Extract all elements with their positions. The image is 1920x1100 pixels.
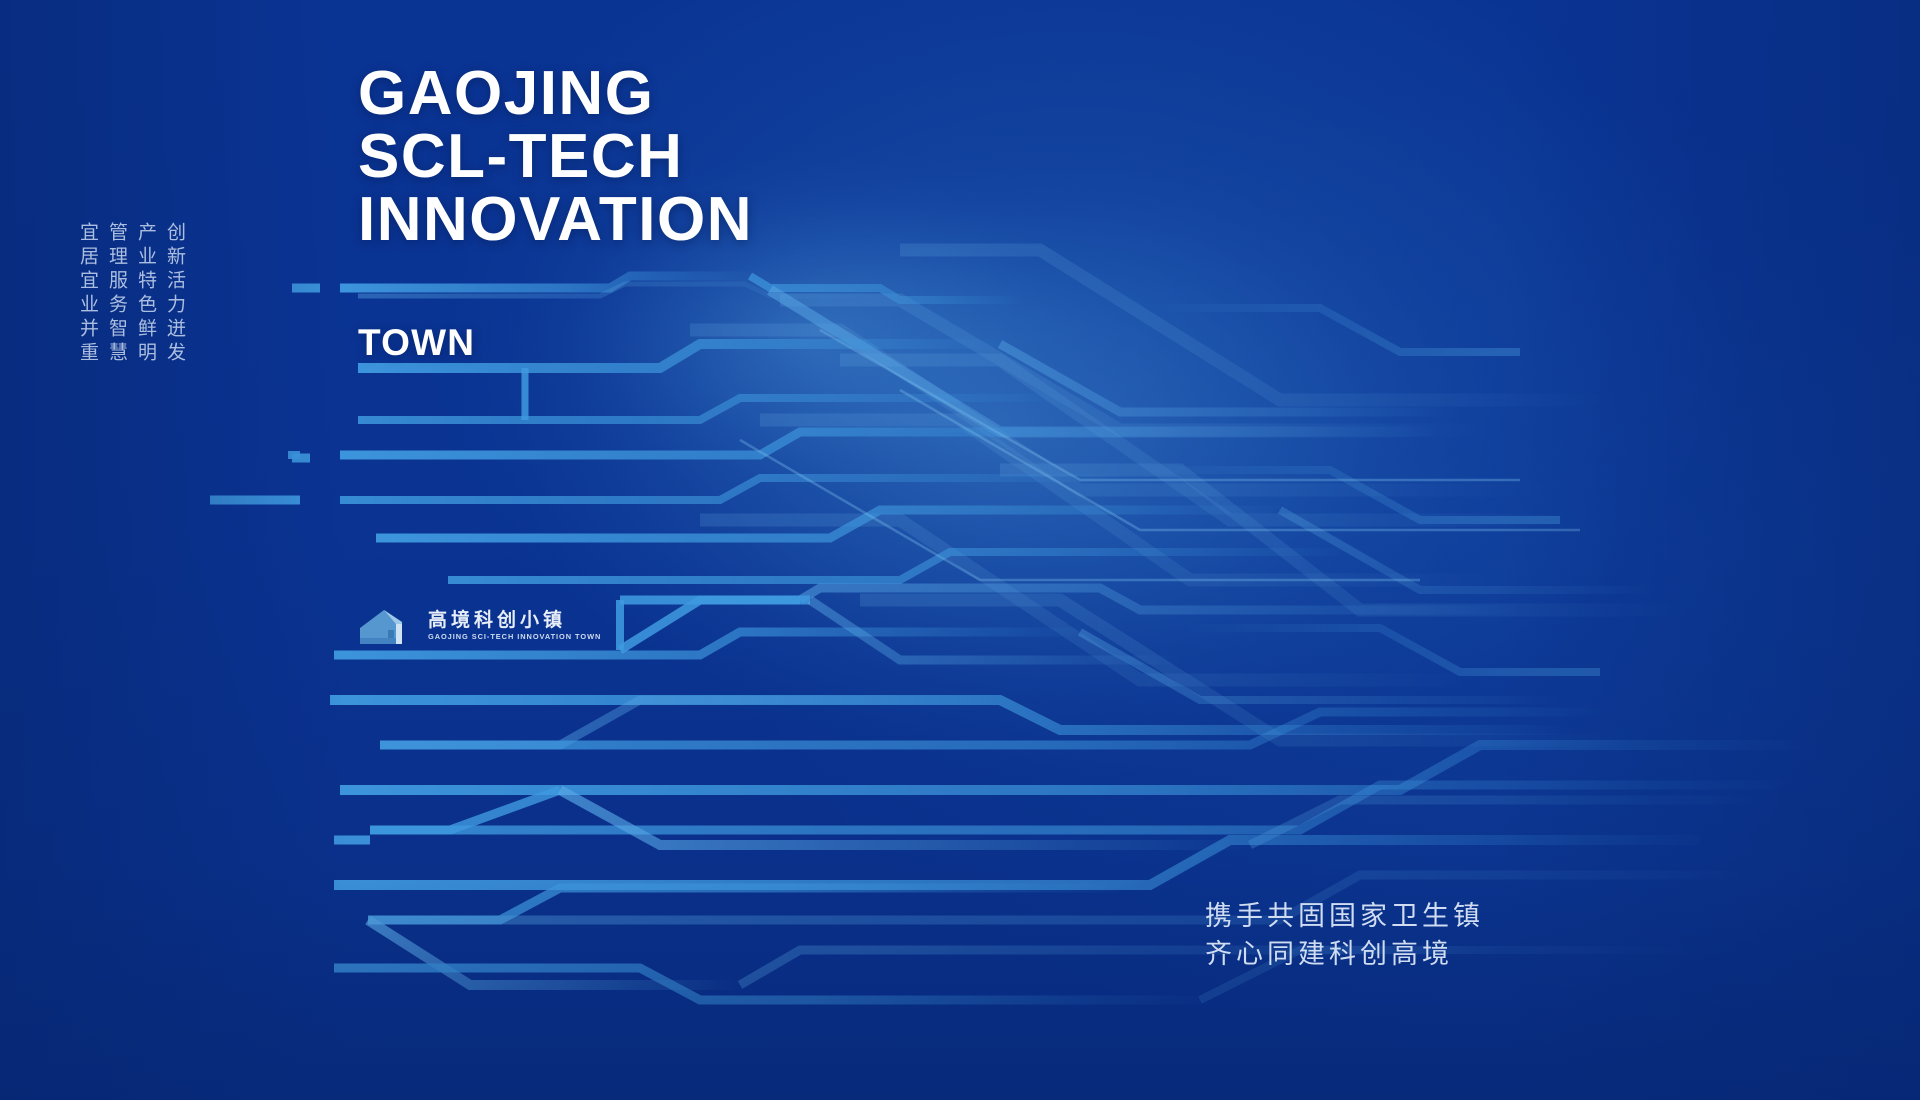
poster-canvas: 创新活力迸发 产业特色鲜明 管理服务智慧 宜居宜业并重 GAOJING SCL-…: [0, 0, 1920, 1100]
vertical-slogan-col-2: 产业特色鲜明: [136, 222, 155, 366]
brand-name-cn: 高境科创小镇: [428, 611, 601, 630]
poster-headline: GAOJING SCL-TECH INNOVATION: [358, 62, 753, 252]
headline-line-1: GAOJING: [358, 62, 753, 125]
house-building-icon: [358, 604, 416, 648]
bottom-slogan-line-1: 携手共固国家卫生镇: [1205, 898, 1484, 936]
vertical-slogan-block: 创新活力迸发 产业特色鲜明 管理服务智慧 宜居宜业并重: [78, 222, 184, 366]
circuit-trace-artwork: [0, 0, 1920, 1100]
vertical-slogan-col-1: 创新活力迸发: [165, 222, 184, 366]
brand-name-en: GAOJING SCI-TECH INNOVATION TOWN: [428, 633, 601, 640]
brand-logo-text: 高境科创小镇 GAOJING SCI-TECH INNOVATION TOWN: [428, 611, 601, 640]
brand-logo-lockup: 高境科创小镇 GAOJING SCI-TECH INNOVATION TOWN: [358, 604, 601, 648]
vertical-slogan-col-4: 宜居宜业并重: [78, 222, 97, 366]
headline-line-3: INNOVATION: [358, 188, 753, 251]
headline-line-4: TOWN: [358, 322, 475, 364]
bottom-slogan-line-2: 齐心同建科创高境: [1205, 936, 1484, 974]
headline-line-2: SCL-TECH: [358, 125, 753, 188]
bottom-right-slogan: 携手共固国家卫生镇 齐心同建科创高境: [1205, 898, 1484, 975]
vertical-slogan-col-3: 管理服务智慧: [107, 222, 126, 366]
